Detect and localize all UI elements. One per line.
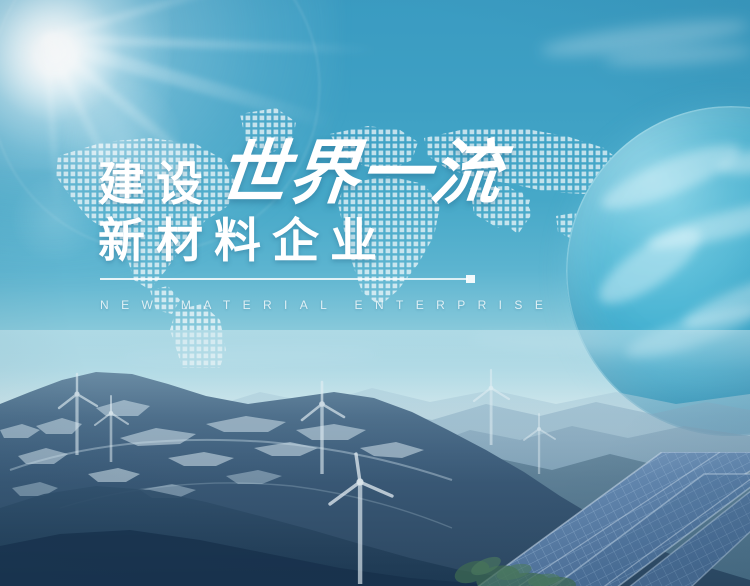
wind-turbine-icon [88,394,134,464]
headline-plain-text: 建设 [98,161,214,208]
headline-line-2: 新材料企业 [98,217,518,267]
divider [100,275,480,283]
headline-accent-text: 世界一流 [214,138,505,208]
divider-end-cap [466,275,475,283]
wind-turbine-icon [322,452,398,586]
wind-turbine-icon [466,368,516,448]
divider-line [100,278,468,280]
headline-block: 建设 世界一流 新材料企业 [98,132,518,267]
hero-banner: 建设 世界一流 新材料企业 NEW MATERIAL ENTERPRISE [0,0,750,586]
subtitle-text: NEW MATERIAL ENTERPRISE [100,298,555,312]
solar-panel-array [452,452,750,586]
headline-line-1: 建设 世界一流 [98,132,518,208]
